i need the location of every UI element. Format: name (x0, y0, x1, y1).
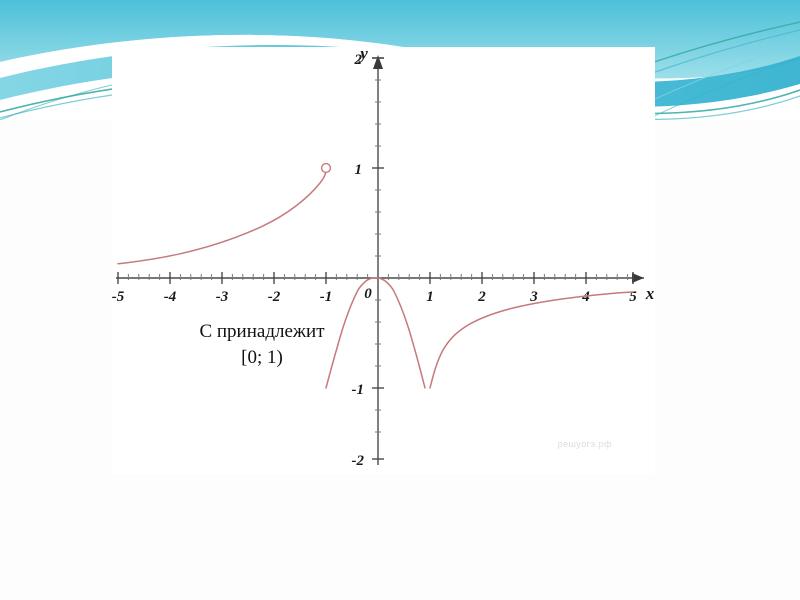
annotation-line-2: [0; 1) (241, 347, 283, 368)
x-tick-label: 2 (477, 289, 486, 305)
y-axis (373, 55, 383, 465)
x-tick-label: -2 (268, 289, 281, 305)
origin-label: 0 (364, 286, 372, 302)
x-tick-label: 1 (426, 289, 434, 305)
y-axis-label: y (358, 47, 368, 63)
x-tick-label: -3 (216, 289, 229, 305)
curve-left-branch (118, 168, 326, 264)
watermark: решуогэ.рф (558, 439, 613, 449)
x-axis-label: x (645, 284, 655, 303)
annotation-line-1: С принадлежит (199, 321, 325, 342)
x-tick-labels: -5 -4 -3 -2 -1 0 1 2 3 4 5 (112, 286, 637, 305)
y-tick-label: -1 (352, 382, 365, 398)
y-tick-label: -2 (352, 453, 365, 469)
x-tick-label: -4 (164, 289, 177, 305)
open-circle-endpoint-marker (322, 164, 331, 173)
y-tick-labels: 2 1 -1 -2 (352, 52, 365, 469)
x-tick-label: -5 (112, 289, 125, 305)
slide-canvas: -5 -4 -3 -2 -1 0 1 2 3 4 5 2 1 -1 -2 x (0, 0, 800, 600)
curve-middle-branch (326, 278, 425, 388)
curve-right-branch (430, 292, 633, 388)
graph-panel: -5 -4 -3 -2 -1 0 1 2 3 4 5 2 1 -1 -2 x (112, 47, 655, 474)
y-tick-label: 1 (355, 162, 363, 178)
x-tick-label: -1 (320, 289, 333, 305)
